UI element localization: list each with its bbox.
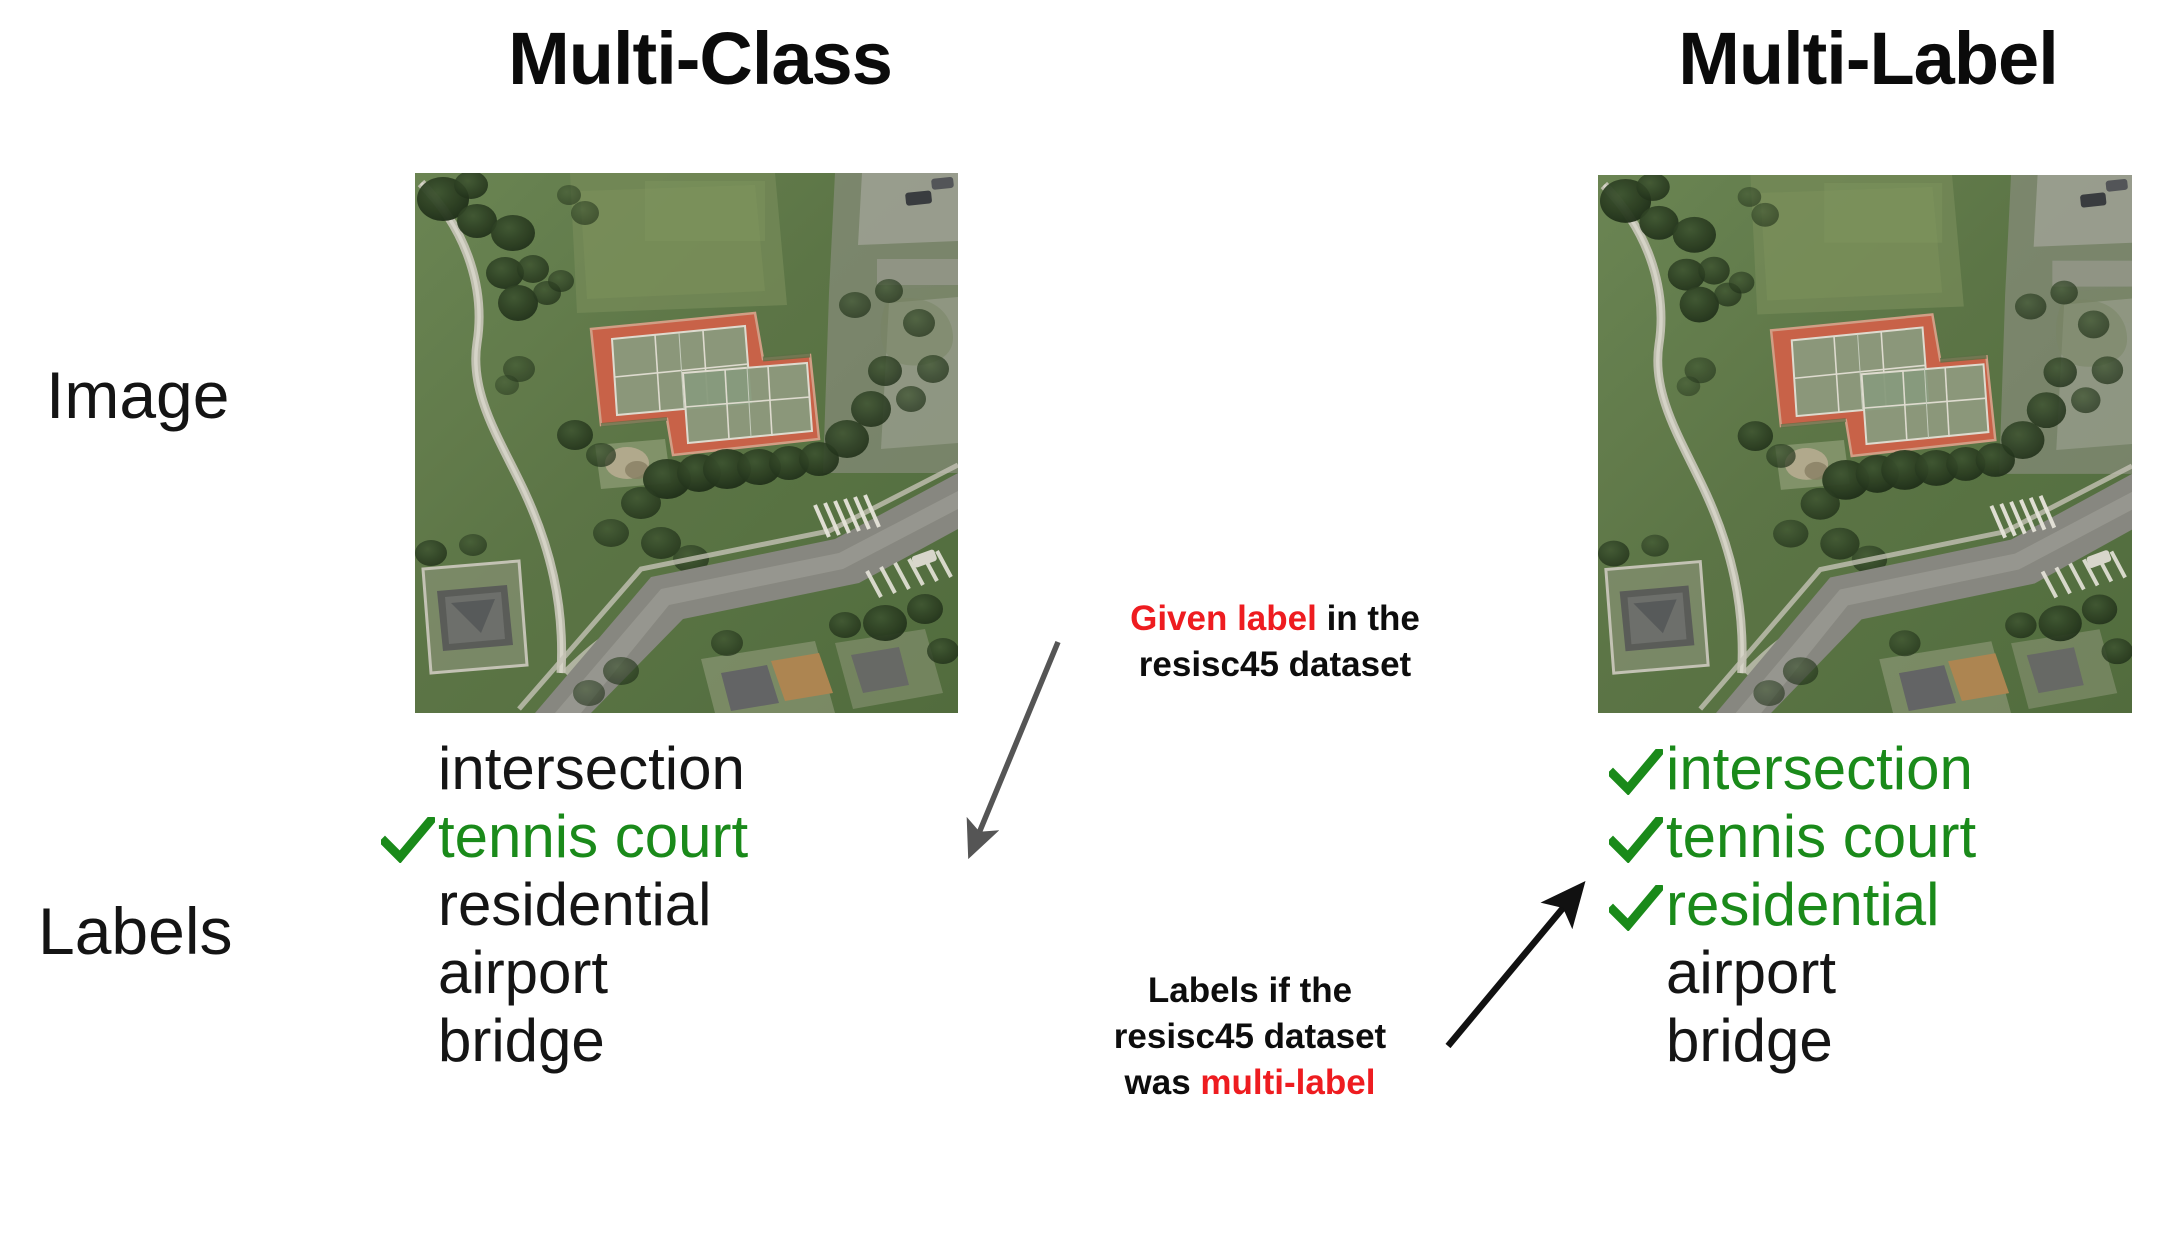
annotation-rest: in the [1317, 599, 1420, 638]
list-item[interactable]: intersection [1606, 738, 1976, 806]
satellite-image-graphic [1598, 175, 2132, 713]
annotation-line-2: resisc45 dataset [1050, 642, 1500, 688]
annotation-multi-label-case: Labels if the resisc45 dataset was multi… [1040, 968, 1460, 1107]
annotation-rest: was [1125, 1063, 1201, 1102]
annotation-highlight: multi-label [1200, 1063, 1375, 1102]
list-item[interactable]: intersection [378, 738, 748, 806]
annotation-highlight: Given label [1130, 599, 1317, 638]
list-item[interactable]: airport [378, 942, 748, 1010]
label-text: residential [1666, 875, 1940, 941]
row-caption-image: Image [46, 362, 229, 428]
label-text: airport [1666, 943, 1836, 1009]
arrow-to-tennis-court-multiclass [972, 642, 1058, 850]
label-text: intersection [438, 739, 745, 805]
label-text: intersection [1666, 739, 1973, 805]
check-icon [381, 817, 435, 863]
label-text: airport [438, 943, 608, 1009]
label-text: residential [438, 875, 712, 941]
satellite-image-multi-class [415, 173, 958, 713]
check-slot [1606, 809, 1666, 871]
list-item[interactable]: bridge [378, 1010, 748, 1078]
list-item[interactable]: residential [378, 874, 748, 942]
annotation-line-1: Labels if the [1040, 968, 1460, 1014]
column-title-multi-label: Multi-Label [1600, 22, 2136, 96]
list-item[interactable]: tennis court [1606, 806, 1976, 874]
annotation-given-label: Given label in the resisc45 dataset [1050, 596, 1500, 688]
label-text: tennis court [1666, 807, 1976, 873]
annotation-line-1: Given label in the [1050, 596, 1500, 642]
label-list-multi-class: intersection tennis court residential ai… [378, 738, 748, 1078]
check-icon [1609, 885, 1663, 931]
label-list-multi-label: intersection tennis court residential ai… [1606, 738, 1976, 1078]
arrow-to-checkmarks-multilabel [1448, 890, 1578, 1046]
check-slot [378, 809, 438, 871]
satellite-image-graphic [415, 173, 958, 713]
row-caption-labels: Labels [38, 898, 233, 964]
list-item[interactable]: bridge [1606, 1010, 1976, 1078]
satellite-image-multi-label [1598, 175, 2132, 713]
check-slot [1606, 877, 1666, 939]
label-text: bridge [438, 1011, 605, 1077]
annotation-line-2: resisc45 dataset [1040, 1014, 1460, 1060]
list-item[interactable]: tennis court [378, 806, 748, 874]
list-item[interactable]: residential [1606, 874, 1976, 942]
annotation-line-3: was multi-label [1040, 1060, 1460, 1106]
check-slot [1606, 945, 1666, 1007]
check-slot [1606, 741, 1666, 803]
figure-root: Multi-Class Multi-Label Image Labels [0, 0, 2174, 1242]
list-item[interactable]: airport [1606, 942, 1976, 1010]
check-icon [1609, 817, 1663, 863]
label-text: tennis court [438, 807, 748, 873]
check-icon [1609, 749, 1663, 795]
check-slot [378, 741, 438, 803]
check-slot [378, 1013, 438, 1075]
column-title-multi-class: Multi-Class [420, 22, 980, 96]
check-slot [378, 945, 438, 1007]
label-text: bridge [1666, 1011, 1833, 1077]
check-slot [1606, 1013, 1666, 1075]
check-slot [378, 877, 438, 939]
